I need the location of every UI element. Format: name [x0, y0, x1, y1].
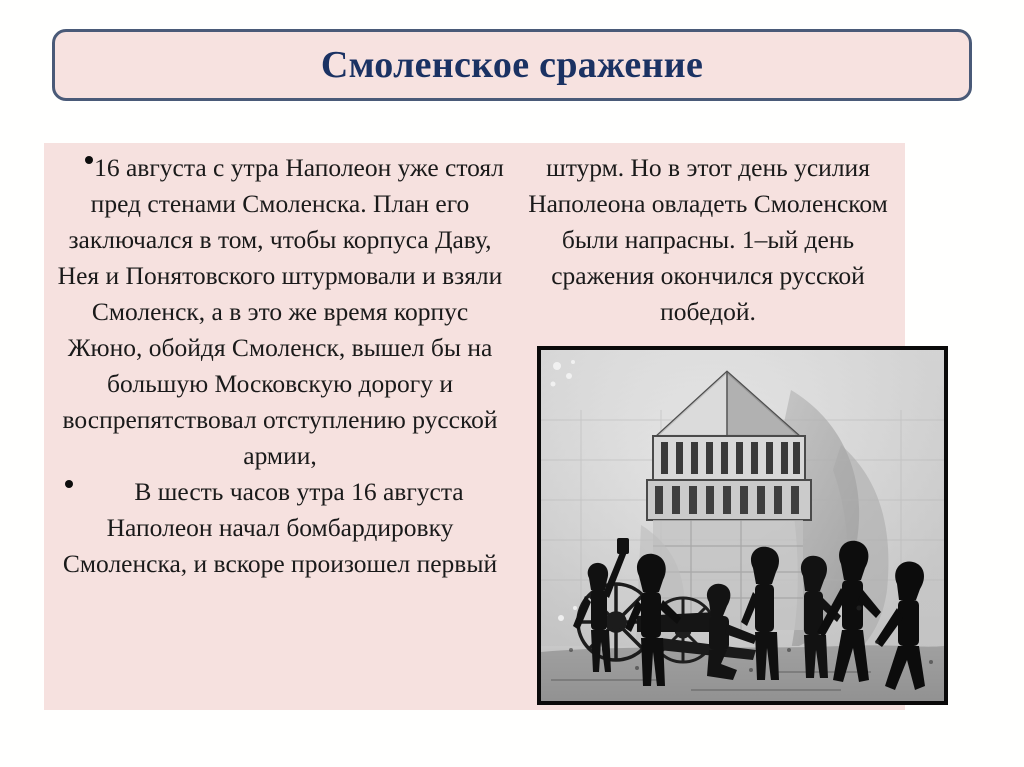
text-column-left: 16 августа с утра Наполеон уже стоял пре… — [55, 150, 505, 582]
bullet-text: 16 августа с утра Наполеон уже стоял пре… — [55, 150, 505, 474]
slide-title-box: Смоленское сражение — [52, 29, 972, 101]
engraving-artwork — [541, 350, 944, 701]
page-title: Смоленское сражение — [321, 46, 703, 84]
body-paragraph: штурм. Но в этот день усилия Наполеона о… — [512, 150, 904, 330]
historical-engraving-image — [537, 346, 948, 705]
bullet-marker-icon — [85, 156, 93, 164]
bullet-text: В шесть часов утра 16 августа Наполеон н… — [55, 474, 505, 582]
list-item: 16 августа с утра Наполеон уже стоял пре… — [55, 150, 505, 474]
text-column-right: штурм. Но в этот день усилия Наполеона о… — [512, 150, 904, 330]
bullet-marker-icon — [65, 480, 73, 488]
list-item: В шесть часов утра 16 августа Наполеон н… — [55, 474, 505, 582]
